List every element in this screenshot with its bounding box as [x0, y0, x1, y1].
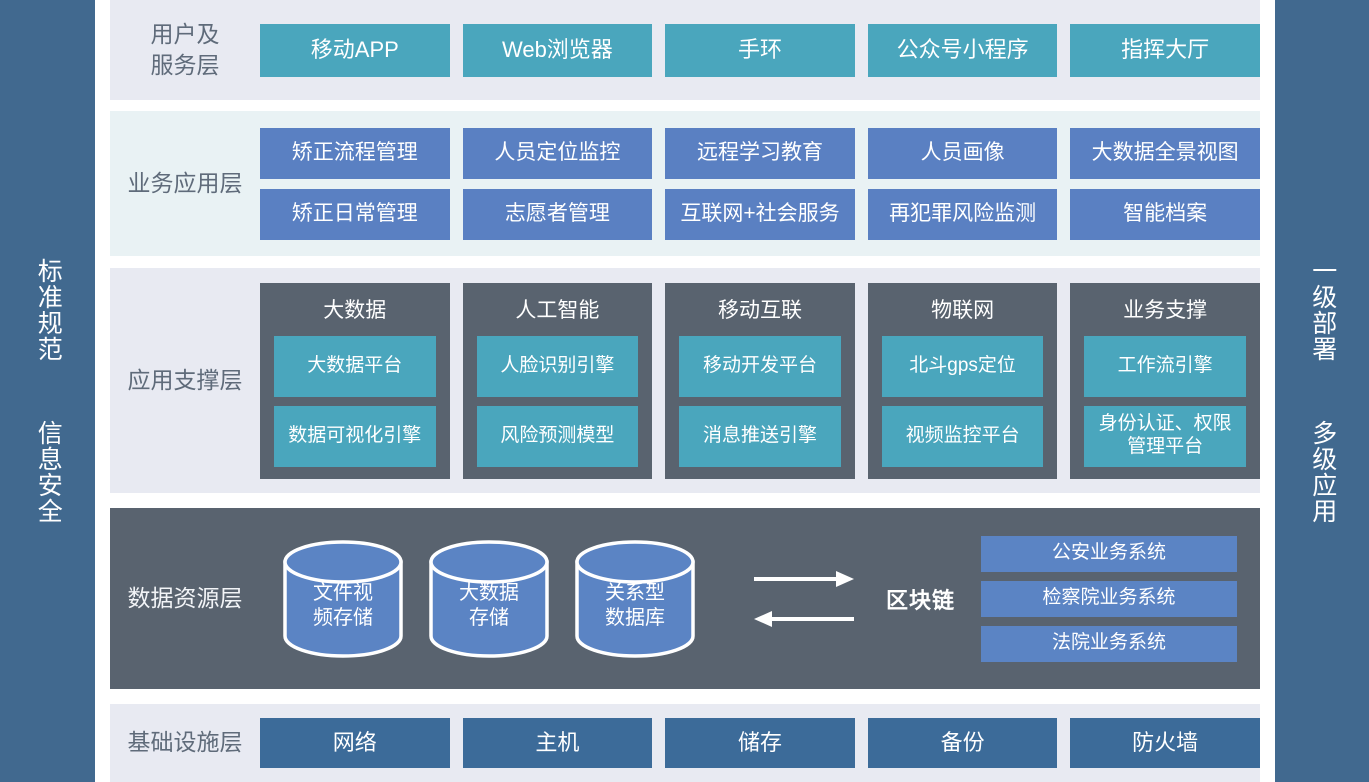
support-panel-item[interactable]: 移动开发平台: [679, 336, 841, 397]
application-support-body: 大数据 大数据平台 数据可视化引擎 人工智能 人脸识别引擎 风险预测模型 移动互…: [260, 268, 1260, 493]
support-panel: 移动互联 移动开发平台 消息推送引擎: [665, 283, 855, 479]
user-service-item[interactable]: 公众号小程序: [868, 24, 1058, 77]
layer-label-infrastructure: 基础设施层: [110, 727, 260, 758]
infrastructure-item[interactable]: 储存: [665, 718, 855, 768]
support-panel-item[interactable]: 人脸识别引擎: [477, 336, 639, 397]
infrastructure-cell: 网络: [260, 718, 450, 768]
user-service-body: 移动APP Web浏览器 手环 公众号小程序 指挥大厅: [260, 0, 1260, 100]
database-cylinder[interactable]: 文件视 频存储: [282, 540, 404, 658]
business-app-item[interactable]: 智能档案: [1070, 189, 1260, 240]
business-app-item[interactable]: 大数据全景视图: [1070, 128, 1260, 179]
business-app-item[interactable]: 矫正流程管理: [260, 128, 450, 179]
user-service-cell: Web浏览器: [463, 24, 653, 77]
bidirectional-exchange-arrows: [754, 570, 874, 628]
business-application-column: 人员画像 再犯罪风险监测: [868, 128, 1058, 240]
user-service-cell: 手环: [665, 24, 855, 77]
business-application-column: 大数据全景视图 智能档案: [1070, 128, 1260, 240]
layer-user-service: 用户及 服务层 移动APP Web浏览器 手环 公众号小程序 指挥大厅: [110, 0, 1260, 100]
infrastructure-item[interactable]: 防火墙: [1070, 718, 1260, 768]
business-application-column: 远程学习教育 互联网+社会服务: [665, 128, 855, 240]
right-rail-label: 一级部署 多级应用: [1304, 258, 1340, 524]
architecture-diagram: 标准规范 信息安全 一级部署 多级应用 用户及 服务层 移动APP Web浏览器…: [0, 0, 1369, 782]
user-service-item[interactable]: 指挥大厅: [1070, 24, 1260, 77]
business-app-item[interactable]: 志愿者管理: [463, 189, 653, 240]
user-service-item[interactable]: 移动APP: [260, 24, 450, 77]
business-app-item[interactable]: 人员画像: [868, 128, 1058, 179]
support-panel: 物联网 北斗gps定位 视频监控平台: [868, 283, 1058, 479]
business-app-item[interactable]: 互联网+社会服务: [665, 189, 855, 240]
layer-infrastructure: 基础设施层 网络 主机 储存 备份 防火墙: [110, 704, 1260, 782]
database-cylinder[interactable]: 大数据 存储: [428, 540, 550, 658]
infrastructure-cell: 储存: [665, 718, 855, 768]
infrastructure-row: 网络 主机 储存 备份 防火墙: [260, 704, 1260, 782]
layer-data-resource: 数据资源层 文件视 频存储 大数据 存储: [110, 508, 1260, 689]
external-system-item[interactable]: 检察院业务系统: [981, 581, 1237, 617]
layer-label-user-service: 用户及 服务层: [110, 19, 260, 81]
business-app-item[interactable]: 远程学习教育: [665, 128, 855, 179]
arrow-right-icon: [754, 570, 854, 588]
business-application-column: 矫正流程管理 矫正日常管理: [260, 128, 450, 240]
support-panel: 业务支撑 工作流引擎 身份认证、权限 管理平台: [1070, 283, 1260, 479]
infrastructure-item[interactable]: 网络: [260, 718, 450, 768]
external-systems-group: 公安业务系统 检察院业务系统 法院业务系统: [981, 536, 1237, 662]
support-panel-item[interactable]: 数据可视化引擎: [274, 406, 436, 467]
layer-business-application: 业务应用层 矫正流程管理 矫正日常管理 人员定位监控 志愿者管理 远程学习教育 …: [110, 111, 1260, 256]
layer-label-application-support: 应用支撑层: [110, 365, 260, 396]
infrastructure-cell: 备份: [868, 718, 1058, 768]
layer-label-data-resource: 数据资源层: [110, 583, 260, 614]
user-service-cell: 公众号小程序: [868, 24, 1058, 77]
support-panel-item[interactable]: 北斗gps定位: [882, 336, 1044, 397]
application-support-panels: 大数据 大数据平台 数据可视化引擎 人工智能 人脸识别引擎 风险预测模型 移动互…: [260, 268, 1260, 493]
infrastructure-cell: 主机: [463, 718, 653, 768]
infrastructure-cell: 防火墙: [1070, 718, 1260, 768]
support-panel: 大数据 大数据平台 数据可视化引擎: [260, 283, 450, 479]
business-app-item[interactable]: 人员定位监控: [463, 128, 653, 179]
support-panel-item[interactable]: 大数据平台: [274, 336, 436, 397]
infrastructure-item[interactable]: 备份: [868, 718, 1058, 768]
data-resource-body: 文件视 频存储 大数据 存储 关系型 数据库: [260, 508, 1260, 689]
user-service-cell: 移动APP: [260, 24, 450, 77]
data-resource-row: 文件视 频存储 大数据 存储 关系型 数据库: [260, 508, 1260, 689]
support-panel-title: 大数据: [274, 291, 436, 327]
support-panel-item[interactable]: 风险预测模型: [477, 406, 639, 467]
user-service-item[interactable]: Web浏览器: [463, 24, 653, 77]
cylinder-label: 关系型 数据库: [605, 567, 665, 631]
business-application-body: 矫正流程管理 矫正日常管理 人员定位监控 志愿者管理 远程学习教育 互联网+社会…: [260, 111, 1260, 256]
business-application-grid: 矫正流程管理 矫正日常管理 人员定位监控 志愿者管理 远程学习教育 互联网+社会…: [260, 111, 1260, 256]
user-service-row: 移动APP Web浏览器 手环 公众号小程序 指挥大厅: [260, 0, 1260, 100]
left-rail-standards-security: 标准规范 信息安全: [0, 0, 95, 782]
right-rail-deployment: 一级部署 多级应用: [1275, 0, 1369, 782]
layer-label-business-application: 业务应用层: [110, 168, 260, 199]
left-rail-label: 标准规范 信息安全: [30, 258, 66, 524]
support-panel: 人工智能 人脸识别引擎 风险预测模型: [463, 283, 653, 479]
support-panel-item[interactable]: 消息推送引擎: [679, 406, 841, 467]
support-panel-title: 物联网: [882, 291, 1044, 327]
cylinder-label: 文件视 频存储: [313, 567, 373, 631]
cylinder-label: 大数据 存储: [459, 567, 519, 631]
user-service-item[interactable]: 手环: [665, 24, 855, 77]
support-panel-item[interactable]: 工作流引擎: [1084, 336, 1246, 397]
blockchain-label: 区块链: [886, 583, 955, 615]
user-service-cell: 指挥大厅: [1070, 24, 1260, 77]
business-app-item[interactable]: 矫正日常管理: [260, 189, 450, 240]
support-panel-title: 移动互联: [679, 291, 841, 327]
business-application-column: 人员定位监控 志愿者管理: [463, 128, 653, 240]
infrastructure-item[interactable]: 主机: [463, 718, 653, 768]
support-panel-item[interactable]: 视频监控平台: [882, 406, 1044, 467]
business-app-item[interactable]: 再犯罪风险监测: [868, 189, 1058, 240]
arrow-left-icon: [754, 610, 854, 628]
external-system-item[interactable]: 公安业务系统: [981, 536, 1237, 572]
support-panel-item[interactable]: 身份认证、权限 管理平台: [1084, 406, 1246, 467]
database-cylinder[interactable]: 关系型 数据库: [574, 540, 696, 658]
external-system-item[interactable]: 法院业务系统: [981, 626, 1237, 662]
layer-application-support: 应用支撑层 大数据 大数据平台 数据可视化引擎 人工智能 人脸识别引擎 风险预测…: [110, 268, 1260, 493]
support-panel-title: 业务支撑: [1084, 291, 1246, 327]
support-panel-title: 人工智能: [477, 291, 639, 327]
infrastructure-body: 网络 主机 储存 备份 防火墙: [260, 704, 1260, 782]
